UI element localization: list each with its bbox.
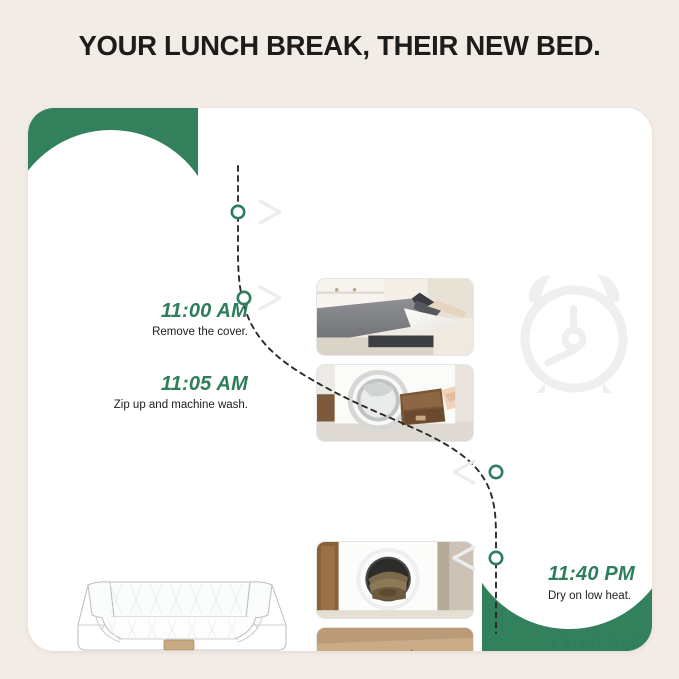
timeline-marker-1 [232, 206, 244, 218]
corner-wedge-top-left [28, 108, 198, 258]
step-2-caption: Zip up and machine wash. [38, 398, 248, 413]
page-title: YOUR LUNCH BREAK, THEIR NEW BED. [0, 30, 679, 62]
timeline-step-1: 11:00 AM Remove the cover. [48, 300, 248, 340]
step-4-time: 12:20 PM [548, 636, 652, 651]
photo-dry-in-dryer [316, 541, 474, 619]
chevron-right-icon-1 [260, 201, 280, 223]
brand-tag [164, 640, 194, 650]
step-2-time: 11:05 AM [38, 373, 248, 396]
photo-dog-on-bed [316, 627, 474, 651]
timeline-step-2: 11:05 AM Zip up and machine wash. [38, 373, 248, 413]
photo-remove-cover [316, 278, 474, 356]
step-3-caption: Dry on low heat. [548, 589, 652, 604]
timeline-step-4: 12:20 PM Give your dog a new bed [548, 636, 652, 651]
timeline-marker-3 [490, 466, 502, 478]
chevron-right-icon-2 [260, 287, 280, 309]
step-1-time: 11:00 AM [48, 300, 248, 323]
alarm-clock-icon [515, 271, 633, 398]
step-1-caption: Remove the cover. [48, 325, 248, 340]
dog-bed-line-art [66, 551, 296, 651]
timeline-step-3: 11:40 PM Dry on low heat. [548, 563, 652, 604]
chevron-left-icon-1 [454, 461, 474, 483]
photo-machine-wash [316, 364, 474, 442]
content-card: 11:00 AM Remove the cover. 11:05 AM Zip … [28, 108, 652, 651]
step-3-time: 11:40 PM [548, 563, 652, 586]
infographic-root: YOUR LUNCH BREAK, THEIR NEW BED. [0, 0, 679, 679]
